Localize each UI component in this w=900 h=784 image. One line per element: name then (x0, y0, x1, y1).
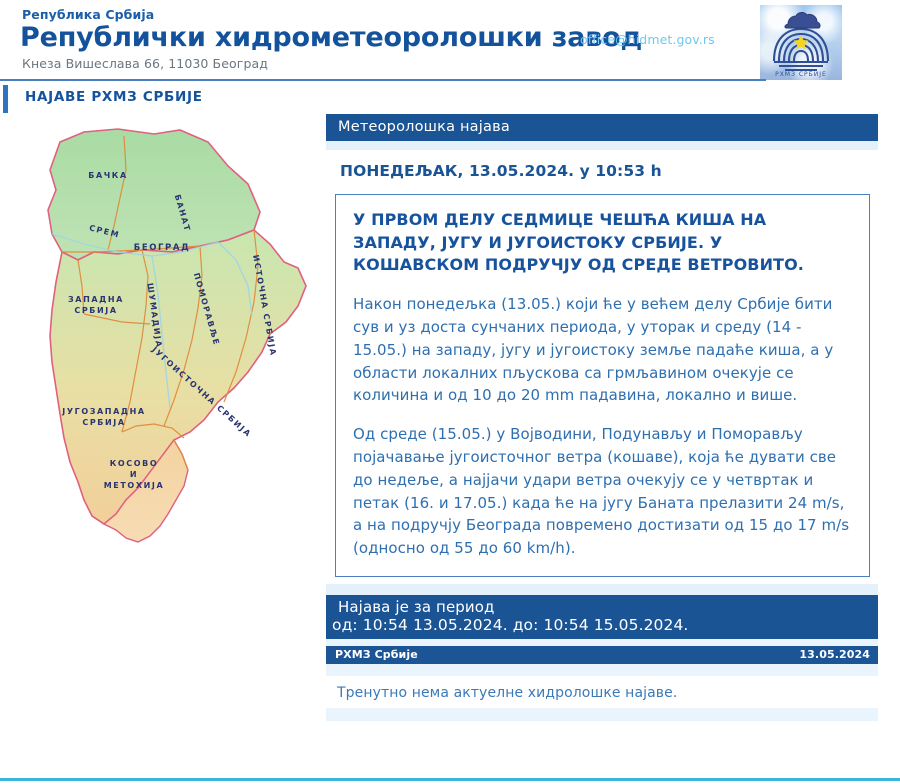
logo-emblem-icon: РХМЗ СРБИЈЕ (760, 5, 842, 80)
section-title: НАЈАВЕ РХМЗ СРБИЈЕ (25, 89, 203, 105)
map-label-metohija: МЕТОХИЈА (104, 481, 165, 490)
spacer-pale-4 (326, 664, 878, 676)
validity-period-bar: Најава је за период од: 10:54 13.05.2024… (326, 595, 878, 639)
announcement-headline: У ПРВОМ ДЕЛУ СЕДМИЦЕ ЧЕШЋА КИША НА ЗАПАД… (353, 209, 853, 277)
map-label-beograd: БЕОГРАД (134, 243, 191, 253)
footer-date: 13.05.2024 (799, 648, 870, 661)
footer-source: РХМЗ Србије (335, 648, 418, 661)
map-label-zapadna-1: ЗАПАДНА (68, 295, 124, 304)
institute-address: Кнеза Вишеслава 66, 11030 Београд (22, 56, 268, 71)
page-root: Република Србија Републички хидрометеоро… (0, 0, 900, 784)
section-accent-bar (3, 85, 8, 113)
map-label-zapadna-2: СРБИЈА (74, 306, 117, 315)
announcement-panel: Метеоролошка најава ПОНЕДЕЉАК, 13.05.202… (326, 114, 878, 721)
announcement-paragraph-2: Од среде (15.05.) у Војводини, Подунављу… (353, 423, 853, 560)
map-label-jugozapadna-2: СРБИЈА (82, 418, 125, 427)
validity-period-range: од: 10:54 13.05.2024. до: 10:54 15.05.20… (332, 616, 868, 635)
spacer-pale-5 (326, 708, 878, 721)
spacer-pale-3 (326, 639, 878, 646)
logo-caption: РХМЗ СРБИЈЕ (775, 71, 827, 78)
announcement-message-box: У ПРВОМ ДЕЛУ СЕДМИЦЕ ЧЕШЋА КИША НА ЗАПАД… (335, 194, 870, 577)
bottom-accent-rule (0, 778, 900, 781)
site-header: Република Србија Републички хидрометеоро… (0, 0, 900, 82)
email-link[interactable]: office@hidmet.gov.rs (580, 32, 715, 47)
announcement-date: ПОНЕДЕЉАК, 13.05.2024. у 10:53 h (326, 150, 878, 194)
spacer-pale-2 (326, 584, 878, 595)
institute-title: Републички хидрометеоролошки завод (20, 22, 642, 53)
announcement-title-bar: Метеоролошка најава (326, 114, 878, 141)
country-line: Република Србија (22, 7, 154, 22)
source-footer-bar: РХМЗ Србије 13.05.2024 (326, 646, 878, 664)
rhmz-logo: РХМЗ СРБИЈЕ (760, 5, 842, 80)
map-label-kosovo: КОСОВО (110, 459, 159, 468)
map-label-backa: БАЧКА (88, 171, 127, 180)
cloud-icon (785, 12, 820, 28)
serbia-map[interactable]: БАЧКА БАНАТ СРЕМ БЕОГРАД ЗАПАДНА СРБИЈА … (22, 126, 322, 551)
map-label-i: И (130, 470, 138, 479)
serbia-map-svg: БАЧКА БАНАТ СРЕМ БЕОГРАД ЗАПАДНА СРБИЈА … (22, 126, 322, 551)
map-label-jugozapadna-1: ЈУГОЗАПАДНА (61, 407, 145, 416)
spacer-pale-1 (326, 141, 878, 150)
hydrology-note: Тренутно нема актуелне хидролошке најаве… (326, 676, 878, 708)
header-divider (0, 79, 766, 81)
validity-period-title: Најава је за период (338, 598, 868, 616)
announcement-paragraph-1: Након понедељка (13.05.) који ће у већем… (353, 293, 853, 407)
